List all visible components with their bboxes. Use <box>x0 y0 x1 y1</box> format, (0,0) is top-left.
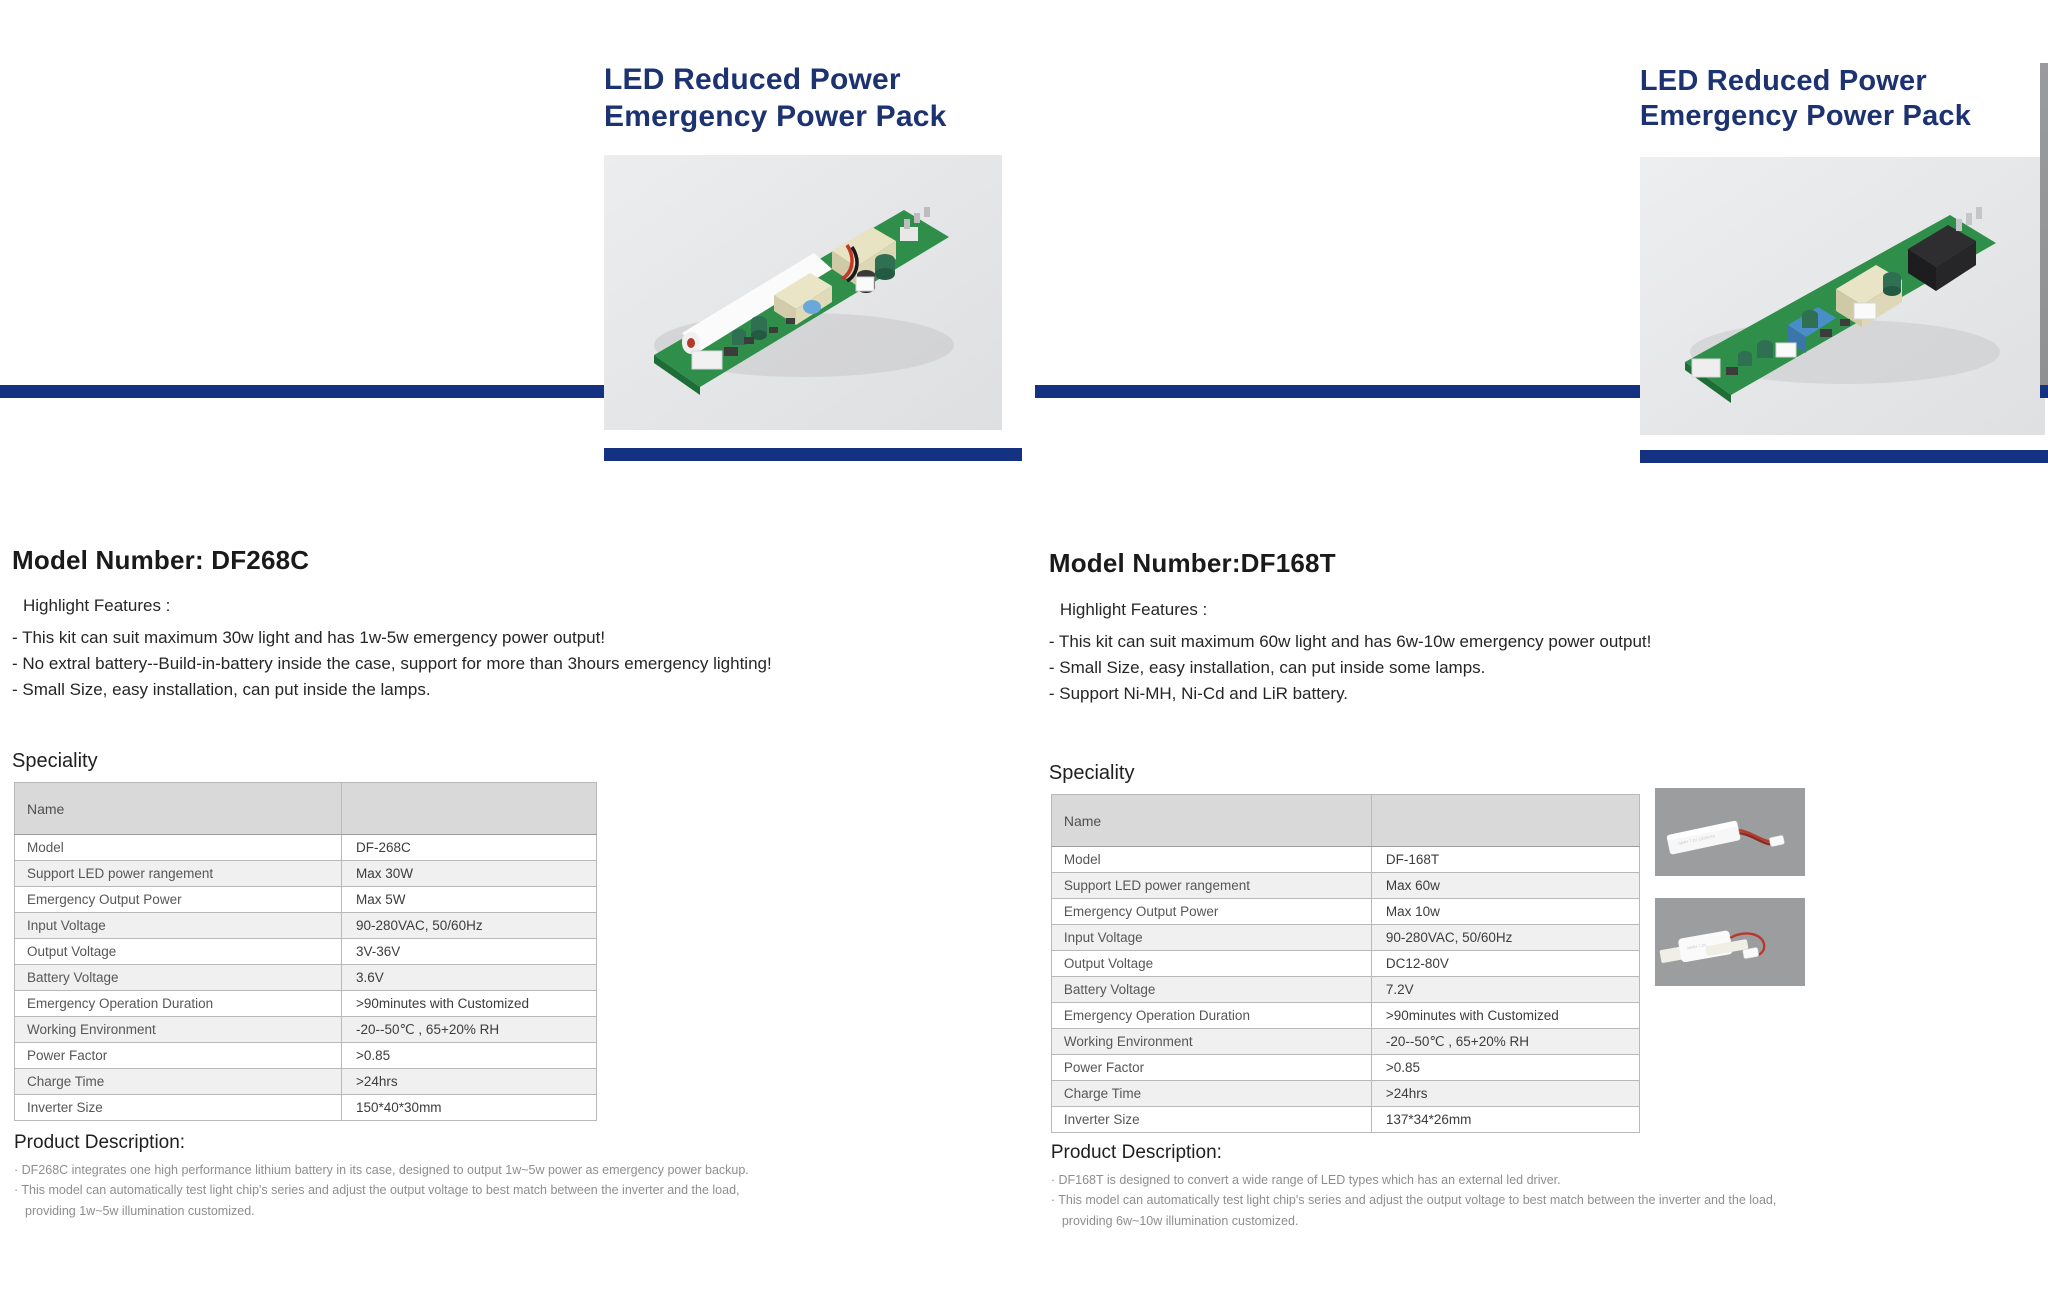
banner-title-line-2: Emergency Power Pack <box>1640 99 1971 134</box>
table-row: Inverter Size 137*34*26mm <box>1051 1107 1639 1133</box>
spec-label: Inverter Size <box>1051 1107 1371 1133</box>
spec-value: 137*34*26mm <box>1371 1107 1639 1133</box>
feature-item: - Support Ni-MH, Ni-Cd and LiR battery. <box>1049 681 2048 707</box>
pcb-photo <box>604 155 1002 430</box>
spec-value: 3V-36V <box>342 939 597 965</box>
spec-value: >0.85 <box>342 1043 597 1069</box>
spec-label: Support LED power rangement <box>15 861 342 887</box>
column-header-value <box>342 783 597 835</box>
description-title: Product Description: <box>1051 1142 2048 1164</box>
banner-title: LED Reduced Power Emergency Power Pack <box>1640 64 1971 135</box>
table-row: Model DF-268C <box>15 835 597 861</box>
description-line: · DF268C integrates one high performance… <box>14 1160 1009 1180</box>
spec-value: >90minutes with Customized <box>342 991 597 1017</box>
spec-label: Output Voltage <box>1051 951 1371 977</box>
spec-label: Input Voltage <box>1051 925 1371 951</box>
spec-label: Emergency Operation Duration <box>1051 1003 1371 1029</box>
accent-bar-photo <box>0 385 604 398</box>
table-row: Support LED power rangement Max 30W <box>15 861 597 887</box>
model-section: Model Number: DF268C <box>12 545 1009 576</box>
description-title: Product Description: <box>14 1132 1009 1154</box>
feature-item: - This kit can suit maximum 30w light an… <box>12 625 1009 651</box>
banner-title-line-2: Emergency Power Pack <box>604 99 947 136</box>
accent-bar-title <box>1640 450 2048 463</box>
speciality-table: Name Model DF-168T Support LED power ran… <box>1051 794 1640 1133</box>
table-row: Emergency Output Power Max 10w <box>1051 899 1639 925</box>
table-header-row: Name <box>15 783 597 835</box>
banner-text-area: LED Reduced Power Emergency Power Pack <box>1035 0 2048 398</box>
description-line: · This model can automatically test ligh… <box>1051 1190 2048 1210</box>
spec-label: Battery Voltage <box>15 965 342 991</box>
table-row: Output Voltage 3V-36V <box>15 939 597 965</box>
spec-value: >90minutes with Customized <box>1371 1003 1639 1029</box>
feature-item: - Small Size, easy installation, can put… <box>12 677 1009 703</box>
table-row: Support LED power rangement Max 60w <box>1051 873 1639 899</box>
spec-value: >24hrs <box>1371 1081 1639 1107</box>
spec-value: Max 10w <box>1371 899 1639 925</box>
table-row: Emergency Operation Duration >90minutes … <box>1051 1003 1639 1029</box>
battery-pack-illustration: NiMH 7.2V 1200mAh <box>1655 788 1805 876</box>
spec-label: Model <box>15 835 342 861</box>
spec-value: DF-268C <box>342 835 597 861</box>
spec-value: Max 30W <box>342 861 597 887</box>
spec-label: Charge Time <box>15 1069 342 1095</box>
next-panel-accent-sliver <box>2040 385 2048 398</box>
column-header-value <box>1371 795 1639 847</box>
spec-value: -20--50℃ , 65+20% RH <box>1371 1029 1639 1055</box>
table-row: Working Environment -20--50℃ , 65+20% RH <box>15 1017 597 1043</box>
spec-value: >0.85 <box>1371 1055 1639 1081</box>
table-row: Battery Voltage 7.2V <box>1051 977 1639 1003</box>
accent-bar-title <box>604 448 1022 461</box>
table-row: Battery Voltage 3.6V <box>15 965 597 991</box>
column-header-name: Name <box>1051 795 1371 847</box>
spec-value: >24hrs <box>342 1069 597 1095</box>
speciality-section: Speciality <box>1049 762 2048 785</box>
model-section: Model Number:DF168T <box>1049 548 2048 579</box>
table-row: Working Environment -20--50℃ , 65+20% RH <box>1051 1029 1639 1055</box>
product-banner: 168T LED Lamp Automatic Emergency Device… <box>1035 0 2048 398</box>
circuit-board-illustration <box>1640 157 2045 435</box>
product-description: Product Description: · DF268C integrates… <box>14 1132 1009 1221</box>
feature-item: - This kit can suit maximum 60w light an… <box>1049 629 2048 655</box>
battery-thumbnail-2: NiMH 7.2V <box>1655 898 1805 986</box>
table-row: Power Factor >0.85 <box>15 1043 597 1069</box>
pcb-photo <box>1640 157 2045 435</box>
speciality-title: Speciality <box>12 750 1009 773</box>
spec-value: 90-280VAC, 50/60Hz <box>342 913 597 939</box>
table-row: Emergency Operation Duration >90minutes … <box>15 991 597 1017</box>
table-row: Charge Time >24hrs <box>15 1069 597 1095</box>
description-line: providing 6w~10w illumination customized… <box>1051 1211 2048 1231</box>
product-panel-df268c: DF268C LED Lamp Automatic Emergency Devi… <box>0 0 1009 1307</box>
table-row: Charge Time >24hrs <box>1051 1081 1639 1107</box>
speciality-table: Name Model DF-268C Support LED power ran… <box>14 782 597 1121</box>
circuit-board-illustration <box>604 155 1002 430</box>
spec-label: Emergency Output Power <box>1051 899 1371 925</box>
spec-value: 3.6V <box>342 965 597 991</box>
table-header-row: Name <box>1051 795 1639 847</box>
features-heading: Highlight Features : <box>23 596 1009 616</box>
spec-label: Output Voltage <box>15 939 342 965</box>
table-row: Inverter Size 150*40*30mm <box>15 1095 597 1121</box>
spec-label: Support LED power rangement <box>1051 873 1371 899</box>
table-row: Input Voltage 90-280VAC, 50/60Hz <box>15 913 597 939</box>
table-row: Input Voltage 90-280VAC, 50/60Hz <box>1051 925 1639 951</box>
spec-value: Max 5W <box>342 887 597 913</box>
spec-label: Power Factor <box>15 1043 342 1069</box>
table-row: Model DF-168T <box>1051 847 1639 873</box>
speciality-section: Speciality <box>12 750 1009 773</box>
spec-value: -20--50℃ , 65+20% RH <box>342 1017 597 1043</box>
speciality-title: Speciality <box>1049 762 2048 785</box>
spec-label: Working Environment <box>15 1017 342 1043</box>
column-header-name: Name <box>15 783 342 835</box>
spec-value: 90-280VAC, 50/60Hz <box>1371 925 1639 951</box>
model-number: Model Number: DF268C <box>12 545 1009 576</box>
spec-label: Model <box>1051 847 1371 873</box>
product-description: Product Description: · DF168T is designe… <box>1051 1142 2048 1231</box>
spec-label: Working Environment <box>1051 1029 1371 1055</box>
table-row: Output Voltage DC12-80V <box>1051 951 1639 977</box>
banner-title: LED Reduced Power Emergency Power Pack <box>604 62 947 135</box>
spec-value: Max 60w <box>1371 873 1639 899</box>
spec-label: Inverter Size <box>15 1095 342 1121</box>
spec-value: DF-168T <box>1371 847 1639 873</box>
description-line: · This model can automatically test ligh… <box>14 1180 1009 1200</box>
panel-gutter <box>1009 0 1035 1307</box>
table-row: Emergency Output Power Max 5W <box>15 887 597 913</box>
spec-label: Power Factor <box>1051 1055 1371 1081</box>
spec-label: Battery Voltage <box>1051 977 1371 1003</box>
battery-thumbnail-1: NiMH 7.2V 1200mAh <box>1655 788 1805 876</box>
product-panel-df168t: 168T LED Lamp Automatic Emergency Device… <box>1035 0 2048 1307</box>
banner-title-line-1: LED Reduced Power <box>604 62 947 99</box>
spec-label: Emergency Operation Duration <box>15 991 342 1017</box>
highlight-features: Highlight Features : - This kit can suit… <box>12 596 1009 702</box>
spec-value: 7.2V <box>1371 977 1639 1003</box>
spec-label: Charge Time <box>1051 1081 1371 1107</box>
spec-label: Emergency Output Power <box>15 887 342 913</box>
spec-label: Input Voltage <box>15 913 342 939</box>
spec-value: DC12-80V <box>1371 951 1639 977</box>
highlight-features: Highlight Features : - This kit can suit… <box>1049 600 2048 706</box>
banner-title-line-1: LED Reduced Power <box>1640 64 1971 99</box>
next-panel-photo-sliver <box>2040 63 2048 385</box>
banner-text-area: LED Reduced Power Emergency Power Pack <box>0 0 1009 398</box>
spec-value: 150*40*30mm <box>342 1095 597 1121</box>
features-heading: Highlight Features : <box>1060 600 2048 620</box>
battery-pack-with-connector-illustration: NiMH 7.2V <box>1655 898 1805 986</box>
description-line: providing 1w~5w illumination customized. <box>14 1201 1009 1221</box>
feature-item: - Small Size, easy installation, can put… <box>1049 655 2048 681</box>
table-row: Power Factor >0.85 <box>1051 1055 1639 1081</box>
feature-item: - No extral battery--Build-in-battery in… <box>12 651 1009 677</box>
description-line: · DF168T is designed to convert a wide r… <box>1051 1170 2048 1190</box>
model-number: Model Number:DF168T <box>1049 548 2048 579</box>
accent-bar-photo <box>1035 385 1640 398</box>
product-banner: DF268C LED Lamp Automatic Emergency Devi… <box>0 0 1009 398</box>
datasheet-page: DF268C LED Lamp Automatic Emergency Devi… <box>0 0 2048 1307</box>
